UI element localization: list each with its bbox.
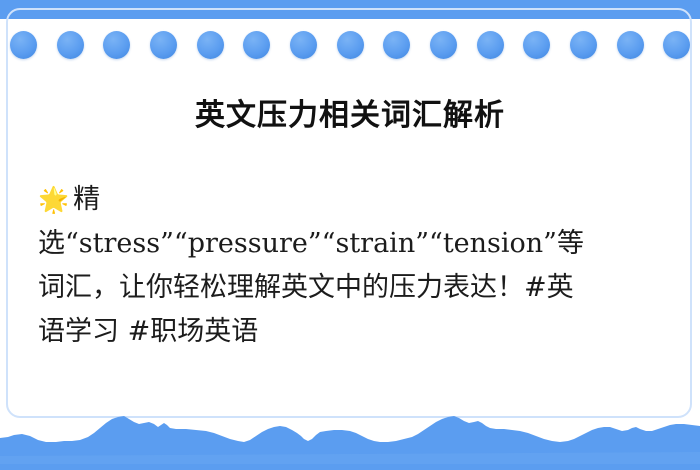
content-area: 英文压力相关词汇解析 🌟精 选“stress”“pressure”“strain…: [0, 0, 700, 420]
star-icon: 🌟: [38, 185, 69, 214]
body-line-4: 语学习 #职场英语: [38, 310, 678, 354]
bottom-wave-decoration: [0, 408, 700, 470]
poster-root: 英文压力相关词汇解析 🌟精 选“stress”“pressure”“strain…: [0, 0, 700, 470]
bottom-blue-strip: [0, 464, 700, 470]
body-text-block: 🌟精 选“stress”“pressure”“strain”“tension”等…: [38, 178, 678, 354]
body-lead-line: 🌟精: [38, 178, 678, 222]
body-lead-word: 精: [73, 184, 100, 215]
page-title: 英文压力相关词汇解析: [0, 96, 700, 136]
bottom-wave-shape: [0, 408, 700, 470]
body-line-3: 词汇，让你轻松理解英文中的压力表达！#英: [38, 266, 678, 310]
body-line-2: 选“stress”“pressure”“strain”“tension”等: [38, 222, 678, 266]
